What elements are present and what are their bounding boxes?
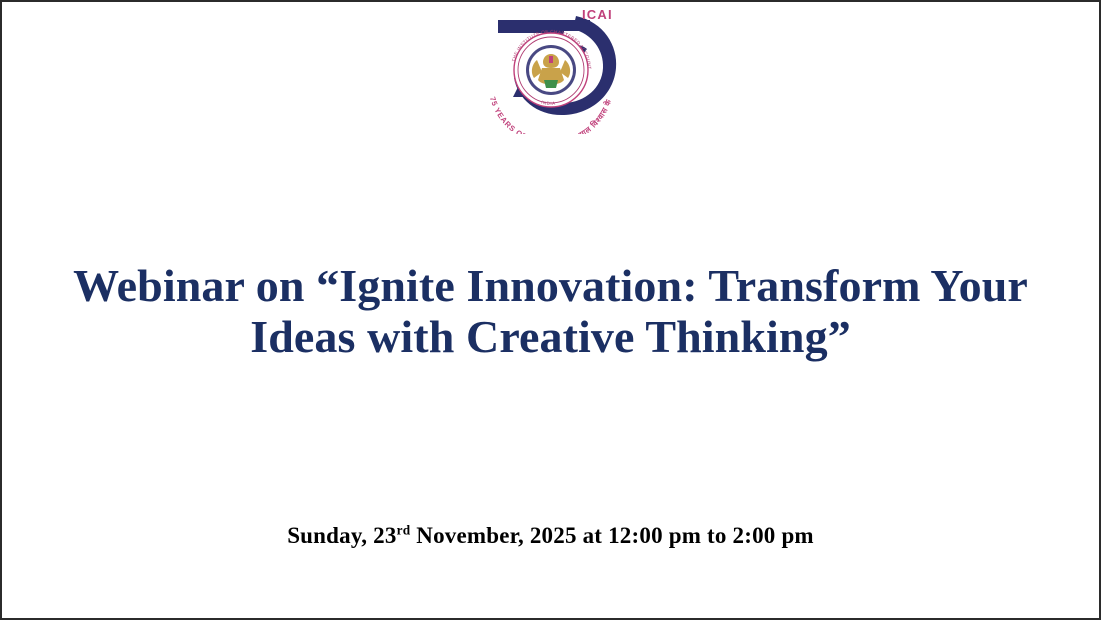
logo-seal: THE INSTITUTE OF CHARTERED ACCOUNTANTS O…	[480, 0, 592, 107]
presentation-slide: ICAI	[0, 0, 1101, 620]
logo-container: ICAI	[2, 0, 1099, 134]
event-date-suffix: November, 2025 at 12:00 pm to 2:00 pm	[410, 523, 813, 548]
page-title: Webinar on “Ignite Innovation: Transform…	[2, 260, 1099, 362]
logo-icai-wordmark: ICAI	[582, 7, 613, 22]
event-datetime: Sunday, 23rd November, 2025 at 12:00 pm …	[2, 522, 1099, 550]
event-date-ordinal: rd	[397, 522, 411, 537]
icai-75-years-logo: ICAI	[480, 0, 622, 134]
title-line-1: Webinar on “Ignite Innovation: Transform…	[32, 260, 1069, 311]
event-date-prefix: Sunday, 23	[287, 523, 396, 548]
title-line-2: Ideas with Creative Thinking”	[32, 311, 1069, 362]
svg-text:ICAI: ICAI	[582, 7, 613, 22]
